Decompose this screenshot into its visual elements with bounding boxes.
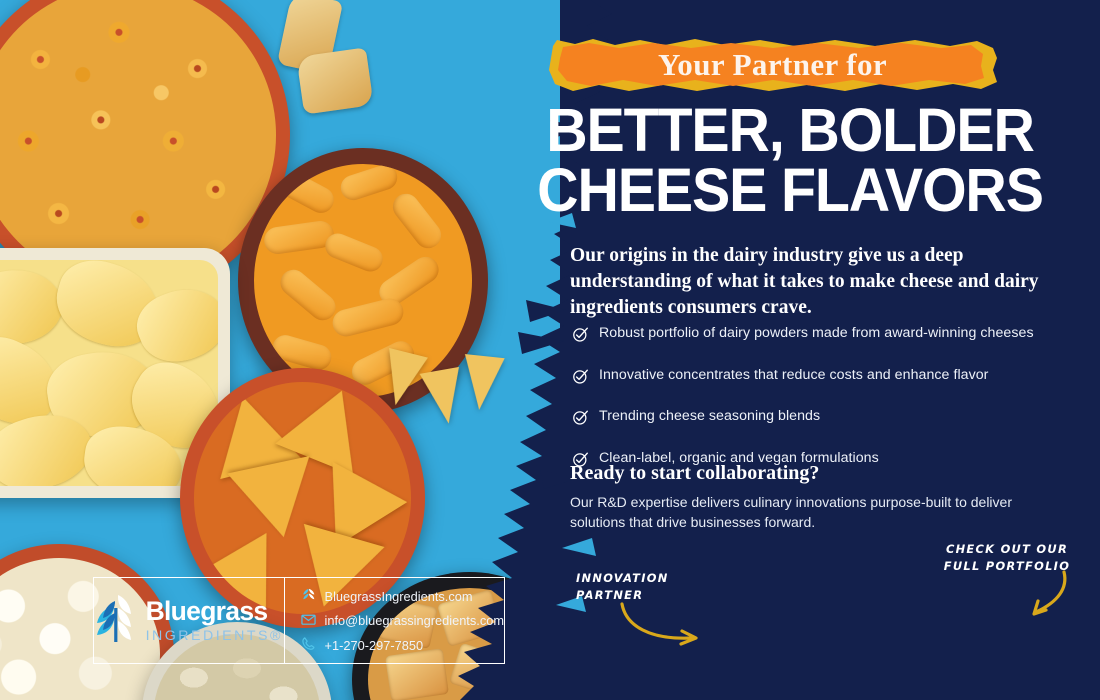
check-circle-icon — [572, 368, 589, 390]
brand-name: Bluegrass — [146, 598, 283, 625]
list-item-label: Trending cheese seasoning blends — [599, 408, 820, 426]
brand-wordmark: Bluegrass INGREDIENTS® — [146, 598, 283, 643]
list-item: Trending cheese seasoning blends — [572, 408, 1082, 431]
wheat-frond-icon — [95, 592, 137, 649]
contact-website-label: BluegrassIngredients.com — [325, 589, 473, 604]
list-item: Innovative concentrates that reduce cost… — [572, 367, 1082, 390]
cracker-piece — [296, 47, 373, 114]
snack-cone — [459, 354, 504, 412]
subheading: Our origins in the dairy industry give u… — [570, 243, 1065, 321]
contact-email[interactable]: info@bluegrassingredients.com — [301, 612, 504, 630]
list-item-label: Innovative concentrates that reduce cost… — [599, 367, 988, 385]
logo-contact-card: Bluegrass INGREDIENTS® — [93, 577, 505, 664]
contact-phone-label: +1-270-297-7850 — [325, 638, 424, 653]
headline-line-2: CHEESE FLAVORS — [499, 160, 1082, 220]
check-circle-icon — [572, 409, 589, 431]
check-circle-icon — [572, 326, 589, 348]
annotation-innovation-partner: Innovation Partner — [576, 570, 696, 603]
annotation-full-portfolio: Check Out Our Full Portfolio — [932, 541, 1082, 574]
page-title: BETTER, BOLDER CHEESE FLAVORS — [499, 100, 1082, 221]
cta-heading: Ready to start collaborating? — [570, 462, 1050, 485]
list-item-label: Robust portfolio of dairy powders made f… — [599, 325, 1034, 343]
wheat-frond-icon — [301, 587, 317, 605]
headline-line-1: BETTER, BOLDER — [546, 96, 1034, 164]
cta-body: Our R&D expertise delivers culinary inno… — [570, 493, 1050, 533]
contact-website[interactable]: BluegrassIngredients.com — [301, 587, 504, 605]
brand-tagline: INGREDIENTS® — [146, 629, 283, 643]
contact-email-label: info@bluegrassingredients.com — [325, 613, 504, 628]
list-item: Robust portfolio of dairy powders made f… — [572, 325, 1082, 348]
contact-phone[interactable]: +1-270-297-7850 — [301, 636, 504, 654]
brand-lockup: Bluegrass INGREDIENTS® — [94, 578, 285, 663]
eyebrow-banner: Your Partner for — [545, 36, 1000, 94]
eyebrow-label: Your Partner for — [545, 36, 1000, 94]
advertisement-root: Your Partner for BETTER, BOLDER CHEESE F… — [0, 0, 1100, 700]
phone-icon — [301, 636, 317, 654]
envelope-icon — [301, 612, 317, 630]
contact-list: BluegrassIngredients.com info@bluegrassi… — [285, 578, 504, 663]
